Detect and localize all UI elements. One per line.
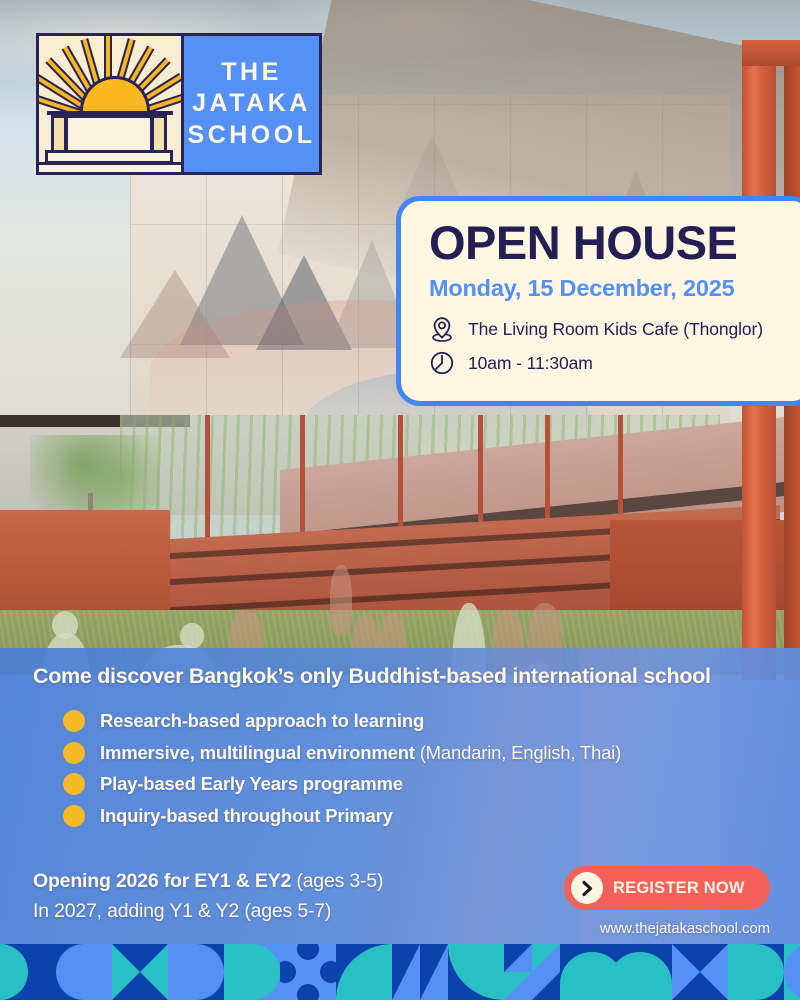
logo-line-school: SCHOOL [188,121,316,151]
opening-line-1: Opening 2026 for EY1 & EY2 (ages 3-5) [33,866,383,896]
list-item-label: Research-based approach to learning [100,710,424,732]
list-item: Play-based Early Years programme [63,773,621,795]
card-date: Monday, 15 December, 2025 [429,275,800,302]
pattern-tile [672,944,728,1000]
band-headline: Come discover Bangkok’s only Buddhist-ba… [33,664,773,689]
card-details: The Living Room Kids Cafe (Thonglor) 10a… [429,315,800,377]
school-logo-wordmark: THE JATAKA SCHOOL [181,36,319,172]
stupa-pillar [151,115,167,153]
info-band: Come discover Bangkok’s only Buddhist-ba… [0,648,800,944]
list-item-label: Play-based Early Years programme [100,773,403,795]
pattern-tile [728,944,784,1000]
cta-area: REGISTER NOW www.thejatakaschool.com [564,866,770,937]
list-item-label: Inquiry-based throughout Primary [100,805,393,827]
logo-line-the: THE [221,58,282,88]
stupa-body [65,115,153,153]
poster: THE JATAKA SCHOOL OPEN HOUSE Monday, 15 … [0,0,800,1000]
pattern-tile [784,944,800,1000]
list-item: Immersive, multilingual environment (Man… [63,742,621,764]
list-item: Inquiry-based throughout Primary [63,805,621,827]
location-row: The Living Room Kids Cafe (Thonglor) [429,315,800,343]
bullet-dot-icon [63,742,85,764]
open-house-card: OPEN HOUSE Monday, 15 December, 2025 The… [396,196,800,406]
pattern-tile [56,944,112,1000]
pattern-tile [448,944,504,1000]
register-now-label: REGISTER NOW [613,879,745,898]
clock-icon [429,349,455,377]
pattern-tile [0,944,56,1000]
pattern-tile [560,944,616,1000]
bullet-dot-icon [63,710,85,732]
pattern-tile [616,944,672,1000]
time-text: 10am - 11:30am [468,353,593,374]
pattern-tile [224,944,280,1000]
pattern-tile [392,944,448,1000]
pattern-tile [168,944,224,1000]
stupa-base [39,162,181,172]
school-logo: THE JATAKA SCHOOL [36,33,322,175]
sunrise-over-stupa-icon [39,36,181,172]
decorative-pattern-strip [0,944,800,1000]
opening-line-2: In 2027, adding Y1 & Y2 (ages 5-7) [33,896,383,926]
list-item: Research-based approach to learning [63,710,621,732]
list-item-label: Immersive, multilingual environment (Man… [100,742,621,764]
chevron-right-icon [571,872,603,904]
bullet-dot-icon [63,773,85,795]
map-pin-icon [429,315,455,343]
location-text: The Living Room Kids Cafe (Thonglor) [468,319,763,340]
feature-list: Research-based approach to learning Imme… [63,710,621,827]
pattern-tile [280,944,336,1000]
card-title: OPEN HOUSE [429,219,800,266]
courtyard-scene [0,415,800,675]
child-figure [330,565,352,635]
opening-years-text: Opening 2026 for EY1 & EY2 (ages 3-5) In… [33,866,383,926]
planter-wall-left [0,510,170,620]
bullet-dot-icon [63,805,85,827]
pattern-tile [504,944,560,1000]
website-url[interactable]: www.thejatakaschool.com [564,920,770,937]
time-row: 10am - 11:30am [429,349,800,377]
pattern-tile [336,944,392,1000]
pattern-tile [112,944,168,1000]
logo-line-jataka: JATAKA [192,89,311,119]
register-now-button[interactable]: REGISTER NOW [564,866,770,910]
column-capital [742,40,800,66]
